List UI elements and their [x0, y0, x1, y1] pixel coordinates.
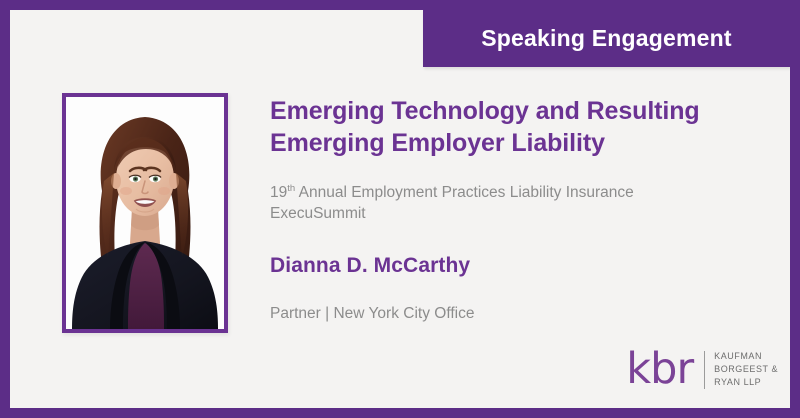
firm-logo: kbr KAUFMAN BORGEEST & RYAN LLP	[626, 348, 778, 391]
firm-name-line-3: RYAN LLP	[714, 376, 778, 389]
speaking-engagement-card: Speaking Engagement	[0, 0, 800, 418]
logo-divider	[704, 351, 705, 389]
speaker-name: Dianna D. McCarthy	[270, 254, 780, 278]
speaker-portrait-frame	[62, 93, 228, 333]
event-number: 19	[270, 184, 287, 201]
talk-title-line-2: Emerging Employer Liability	[270, 129, 605, 157]
event-ordinal-suffix: th	[287, 182, 295, 193]
event-name: 19th Annual Employment Practices Liabili…	[270, 182, 700, 225]
event-name-rest: Annual Employment Practices Liability In…	[270, 184, 634, 222]
engagement-details: Emerging Technology and Resulting Emergi…	[270, 96, 780, 323]
talk-title: Emerging Technology and Resulting Emergi…	[270, 96, 730, 160]
firm-name-line-1: KAUFMAN	[714, 350, 778, 363]
speaking-engagement-ribbon: Speaking Engagement	[423, 10, 790, 67]
speaker-role: Partner | New York City Office	[270, 305, 780, 323]
firm-name-line-2: BORGEEST &	[714, 363, 778, 376]
headshot-photo	[66, 97, 224, 329]
ribbon-label: Speaking Engagement	[481, 25, 731, 52]
firm-name-wordmark: KAUFMAN BORGEEST & RYAN LLP	[714, 350, 778, 388]
kbr-logo-mark: kbr	[626, 348, 693, 391]
talk-title-line-1: Emerging Technology and Resulting	[270, 97, 700, 125]
card-canvas: Speaking Engagement	[10, 10, 790, 408]
